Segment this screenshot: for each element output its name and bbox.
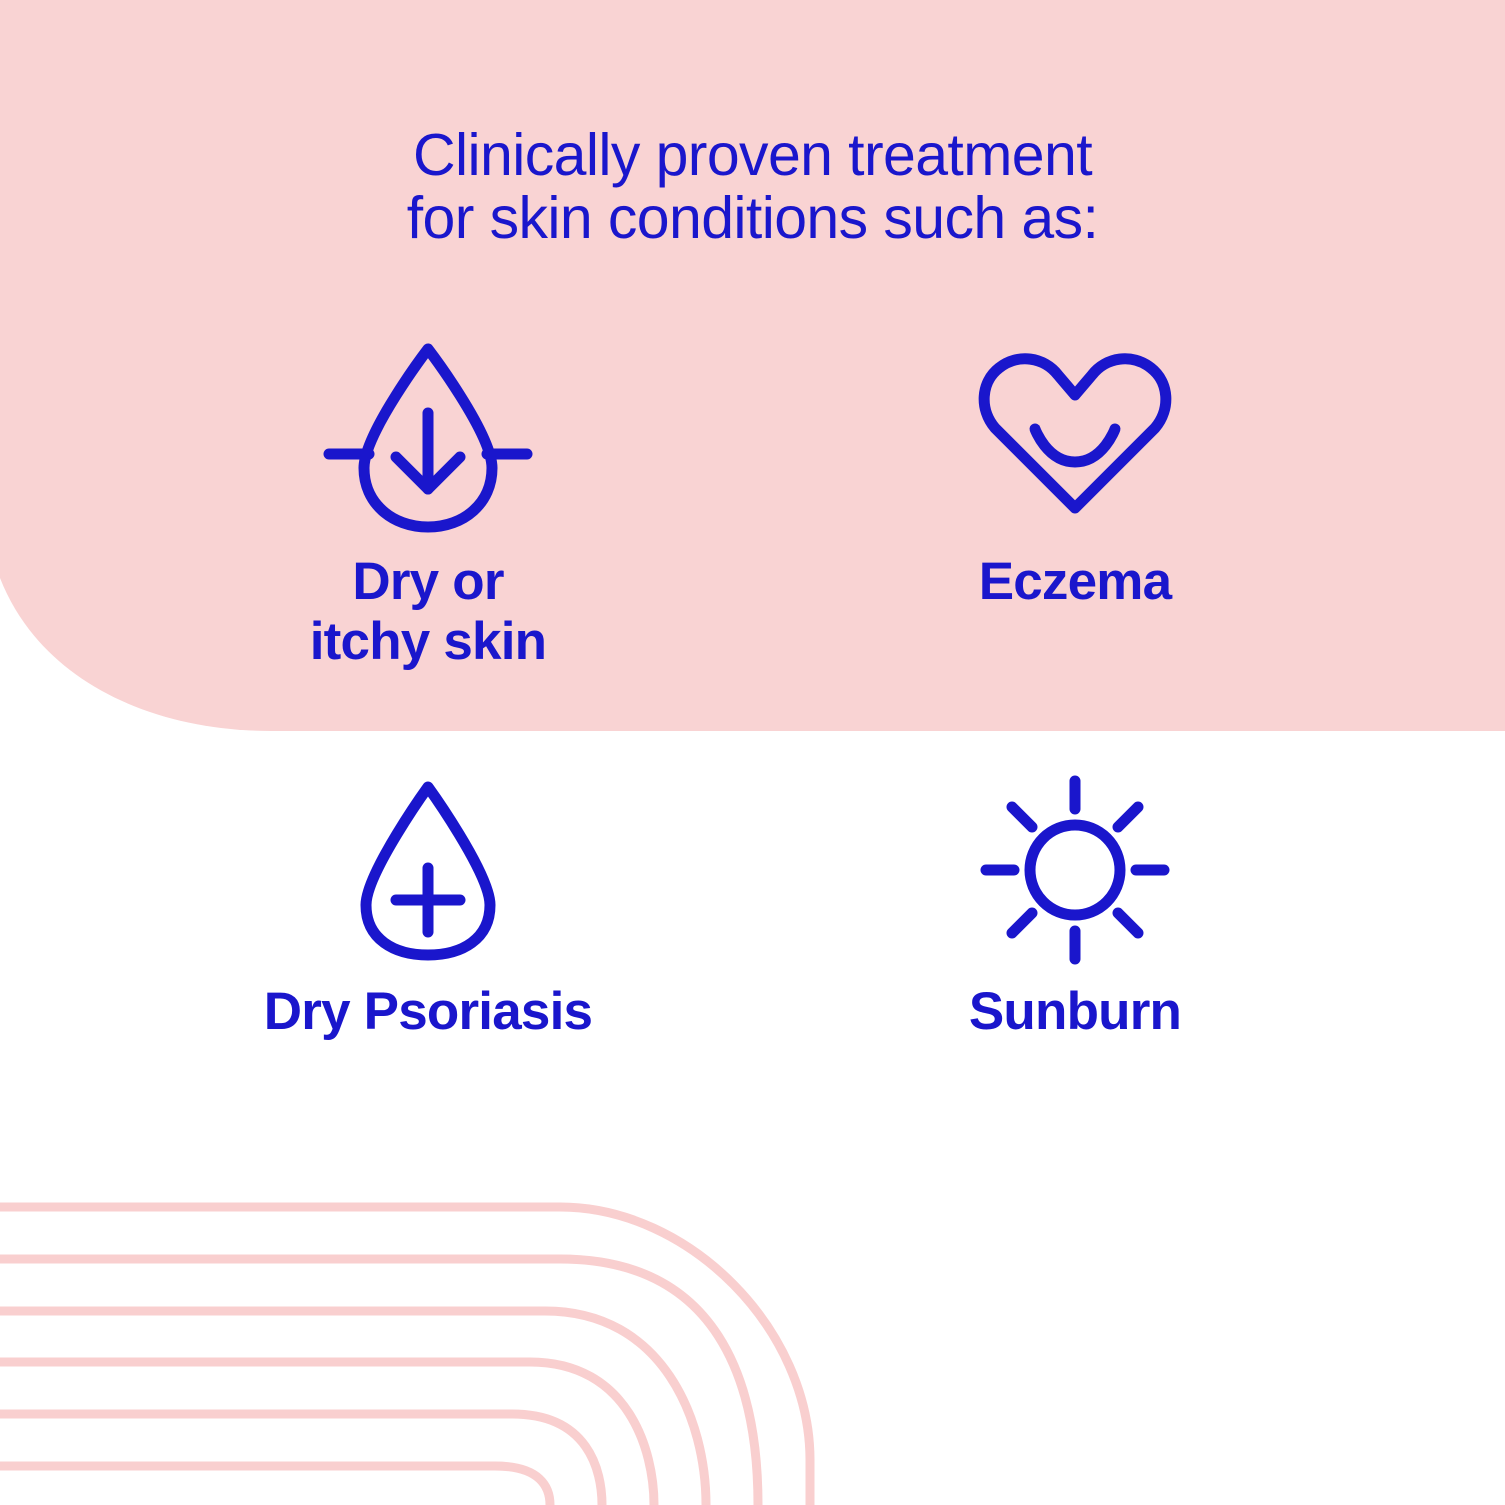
arc-line-3: [0, 1311, 706, 1505]
arc-line-4: [0, 1362, 654, 1505]
condition-item-dry-itchy-skin[interactable]: Dry or itchy skin: [148, 330, 708, 672]
page-title: Clinically proven treatment for skin con…: [0, 124, 1505, 250]
arc-line-6: [0, 1466, 550, 1505]
icon-container: [148, 330, 708, 540]
condition-label: Sunburn: [795, 982, 1355, 1042]
heart-smile-icon: [977, 352, 1173, 518]
icon-container: [148, 770, 708, 970]
droplet-down-arrow-icon: [322, 337, 534, 533]
condition-label: Dry Psoriasis: [148, 982, 708, 1042]
condition-item-dry-psoriasis[interactable]: Dry Psoriasis: [148, 770, 708, 1042]
condition-label: Eczema: [795, 552, 1355, 612]
corner-arc-lines: [0, 1207, 810, 1505]
icon-container: [795, 330, 1355, 540]
arc-line-2: [0, 1259, 758, 1505]
condition-item-eczema[interactable]: Eczema: [795, 330, 1355, 612]
arc-line-5: [0, 1414, 602, 1505]
condition-label: Dry or itchy skin: [148, 552, 708, 672]
condition-grid: Dry or itchy skin Eczema Dry Psoriasi: [0, 330, 1505, 1090]
icon-container: [795, 770, 1355, 970]
arc-line-1: [0, 1207, 810, 1505]
droplet-plus-icon: [359, 779, 497, 961]
sun-icon: [971, 775, 1179, 965]
promo-graphic: Clinically proven treatment for skin con…: [0, 0, 1505, 1505]
condition-item-sunburn[interactable]: Sunburn: [795, 770, 1355, 1042]
